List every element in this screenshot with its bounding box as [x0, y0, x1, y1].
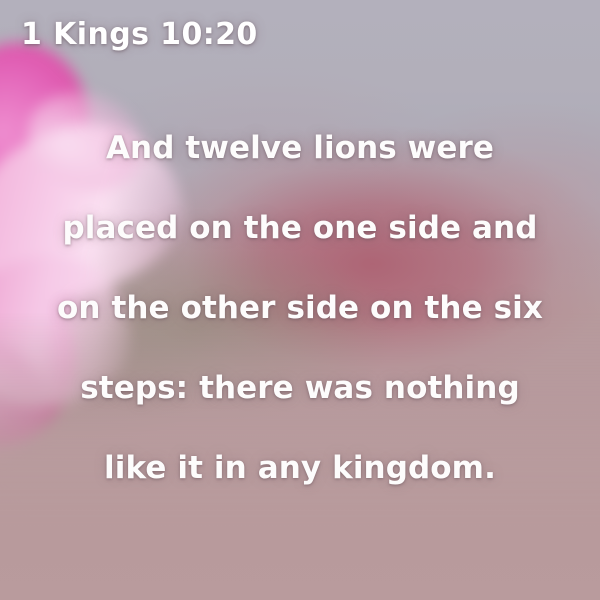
verse-line: like it in any kingdom.	[18, 428, 582, 508]
verse-image: 1 Kings 10:20 And twelve lions were plac…	[0, 0, 600, 600]
verse-line: placed on the one side and	[18, 188, 582, 268]
verse-text-block: And twelve lions were placed on the one …	[0, 108, 600, 508]
verse-line: And twelve lions were	[18, 108, 582, 188]
verse-reference: 1 Kings 10:20	[21, 17, 258, 52]
verse-line: steps: there was nothing	[18, 348, 582, 428]
verse-line: on the other side on the six	[18, 268, 582, 348]
